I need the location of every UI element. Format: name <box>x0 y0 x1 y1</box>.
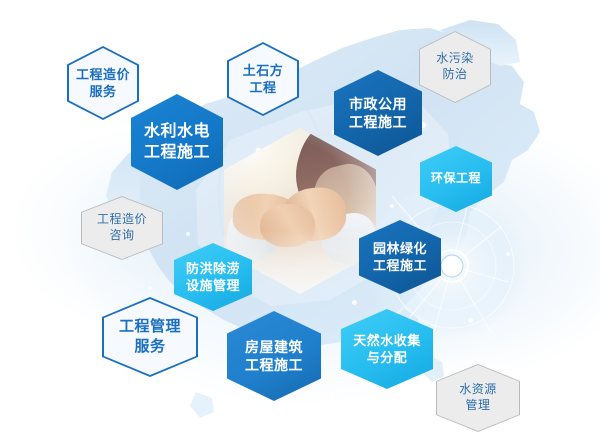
hex-engineering-cost-service-label: 工程造价 服务 <box>76 66 130 100</box>
hex-building-construction-engineering-label: 房屋建筑 工程施工 <box>245 338 303 375</box>
hex-building-construction-engineering[interactable]: 房屋建筑 工程施工 <box>227 311 321 401</box>
hex-environmental-protection-engineering-label: 环保工程 <box>431 171 481 187</box>
hex-water-pollution-control[interactable]: 水污染 防治 <box>419 31 491 103</box>
hex-engineering-cost-consulting[interactable]: 工程造价 咨询 <box>81 196 163 260</box>
hex-natural-water-collection-distribution[interactable]: 天然水收集 与分配 <box>341 309 433 389</box>
infographic-canvas: 工程造价 服务土石方 工程水污染 防治水利水电 工程施工市政公用 工程施工环保工… <box>0 0 600 439</box>
hex-environmental-protection-engineering[interactable]: 环保工程 <box>420 146 492 212</box>
hex-natural-water-collection-distribution-label: 天然水收集 与分配 <box>353 332 421 366</box>
hex-municipal-public-works-construction-label: 市政公用 工程施工 <box>349 95 407 132</box>
hex-engineering-cost-consulting-label: 工程造价 咨询 <box>97 212 147 244</box>
hex-engineering-cost-service[interactable]: 工程造价 服务 <box>67 46 139 120</box>
hex-earthwork-engineering-label: 土石方 工程 <box>243 62 284 96</box>
hex-water-resources-management[interactable]: 水资源 管理 <box>436 364 520 432</box>
hex-landscaping-engineering-construction[interactable]: 园林绿化 工程施工 <box>359 220 441 294</box>
hex-water-resources-management-label: 水资源 管理 <box>459 382 497 414</box>
hexagon-node-layer: 工程造价 服务土石方 工程水污染 防治水利水电 工程施工市政公用 工程施工环保工… <box>0 0 600 439</box>
hex-water-conservancy-hydropower-construction[interactable]: 水利水电 工程施工 <box>131 94 223 190</box>
hex-project-management-service[interactable]: 工程管理 服务 <box>102 297 198 377</box>
hex-project-management-service-label: 工程管理 服务 <box>119 317 181 357</box>
hex-landscaping-engineering-construction-label: 园林绿化 工程施工 <box>373 240 427 274</box>
hex-water-conservancy-hydropower-construction-label: 水利水电 工程施工 <box>144 121 210 163</box>
hex-flood-control-drainage-facility-management-label: 防洪除涝 设施管理 <box>186 260 240 294</box>
hex-municipal-public-works-construction[interactable]: 市政公用 工程施工 <box>334 70 422 156</box>
hex-earthwork-engineering[interactable]: 土石方 工程 <box>227 42 299 116</box>
hex-water-pollution-control-label: 水污染 防治 <box>436 51 474 83</box>
